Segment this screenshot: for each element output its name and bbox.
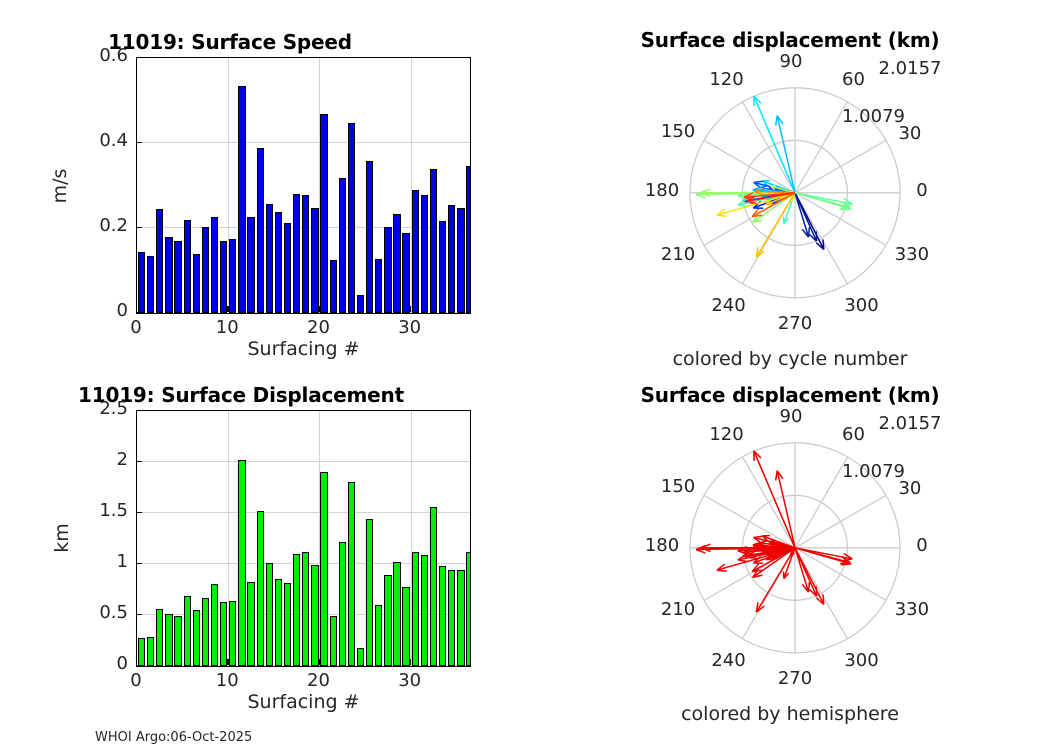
bar xyxy=(266,204,273,313)
polar-spoke xyxy=(704,495,795,548)
bar xyxy=(339,542,346,666)
bar xyxy=(402,587,409,666)
polar-angle-label: 210 xyxy=(652,244,704,265)
bar xyxy=(357,648,364,666)
bar xyxy=(229,239,236,313)
bar xyxy=(375,259,382,313)
panel-polar-hemisphere: Surface displacement (km) 03060901201501… xyxy=(530,375,1050,750)
gridline-y xyxy=(137,461,470,462)
y-tick-label: 0.6 xyxy=(58,45,128,66)
bar xyxy=(156,609,163,666)
figure-footer: WHOI Argo:06-Oct-2025 xyxy=(95,730,252,745)
bar xyxy=(238,86,245,313)
bar xyxy=(247,582,254,666)
x-tick-label: 0 xyxy=(106,670,166,691)
displacement-plot-area xyxy=(136,410,471,667)
y-tick-mark xyxy=(136,142,142,143)
bar xyxy=(266,563,273,666)
x-tick-mark xyxy=(227,306,228,312)
polar-angle-label: 300 xyxy=(836,650,888,671)
polar-cycle-title: Surface displacement (km) xyxy=(530,28,1050,52)
y-tick-mark xyxy=(136,410,142,411)
polar-angle-label: 240 xyxy=(703,295,755,316)
polar-angle-label: 0 xyxy=(896,535,948,556)
vector-arrowhead xyxy=(770,541,776,542)
y-tick-mark xyxy=(136,227,142,228)
polar-angle-label: 270 xyxy=(769,668,821,689)
vector-arrowhead xyxy=(770,186,776,187)
bar xyxy=(193,254,200,314)
panel-surface-speed: 11019: Surface Speed 00.20.40.6 0102030 … xyxy=(0,0,510,375)
polar-angle-label: 0 xyxy=(896,180,948,201)
x-tick-mark xyxy=(136,306,137,312)
bar xyxy=(339,178,346,313)
bar xyxy=(439,221,446,313)
vector-arrowhead xyxy=(754,536,763,537)
bar xyxy=(174,616,181,666)
vector-shaft xyxy=(754,96,795,193)
bar xyxy=(348,482,355,666)
x-tick-label: 10 xyxy=(197,670,257,691)
polar-angle-label: 330 xyxy=(886,244,938,265)
bar xyxy=(275,212,282,313)
x-tick-mark xyxy=(227,659,228,665)
polar-spoke xyxy=(795,140,886,193)
x-tick-label: 20 xyxy=(288,317,348,338)
bar xyxy=(421,195,428,313)
bar xyxy=(457,208,464,313)
displacement-y-axis-label: km xyxy=(51,468,73,608)
polar-angle-label: 180 xyxy=(636,535,688,556)
bar xyxy=(184,596,191,666)
polar-angle-label: 150 xyxy=(652,121,704,142)
bar xyxy=(147,256,154,313)
y-tick-mark xyxy=(136,665,142,666)
polar-hemisphere-title: Surface displacement (km) xyxy=(530,383,1050,407)
x-tick-mark xyxy=(318,306,319,312)
bar xyxy=(412,190,419,313)
x-tick-mark xyxy=(410,306,411,312)
y-tick-mark xyxy=(136,57,142,58)
vector-arrowhead xyxy=(717,570,727,571)
bar xyxy=(147,637,154,666)
polar-angle-label: 210 xyxy=(652,599,704,620)
bar xyxy=(293,554,300,666)
vector-arrowhead xyxy=(841,209,851,210)
bar xyxy=(366,161,373,313)
polar-cycle-caption: colored by cycle number xyxy=(530,348,1050,370)
polar-angle-label: 240 xyxy=(703,650,755,671)
x-tick-label: 10 xyxy=(197,317,257,338)
bar xyxy=(174,241,181,313)
x-tick-label: 30 xyxy=(380,317,440,338)
speed-x-axis-label: Surfacing # xyxy=(136,338,471,360)
bar xyxy=(220,241,227,313)
bar xyxy=(448,570,455,666)
vector-arrowhead xyxy=(776,471,778,481)
y-tick-mark xyxy=(136,614,142,615)
bar xyxy=(284,223,291,313)
speed-plot-area xyxy=(136,57,471,314)
bar xyxy=(247,217,254,313)
bar xyxy=(229,601,236,666)
panel-surface-displacement: 11019: Surface Displacement 00.511.522.5… xyxy=(0,375,510,750)
y-tick-mark xyxy=(136,461,142,462)
polar-vector xyxy=(754,451,795,548)
vector-shaft xyxy=(777,116,795,193)
polar-radial-label: 1.0079 xyxy=(834,106,914,127)
polar-angle-label: 270 xyxy=(769,313,821,334)
bar xyxy=(220,602,227,666)
bar xyxy=(320,472,327,666)
polar-angle-label: 120 xyxy=(701,69,753,90)
bar xyxy=(302,552,309,666)
bar xyxy=(202,598,209,666)
bar xyxy=(320,114,327,313)
bar xyxy=(202,227,209,313)
polar-hemisphere-plot: 03060901201501802102402703003301.00792.0… xyxy=(630,410,960,675)
bar xyxy=(138,638,145,666)
polar-angle-label: 90 xyxy=(765,51,817,72)
y-tick-label: 2.5 xyxy=(58,398,128,419)
x-tick-label: 0 xyxy=(106,317,166,338)
bar xyxy=(311,565,318,666)
bar xyxy=(156,209,163,313)
gridline-y xyxy=(137,512,470,513)
bar xyxy=(448,205,455,313)
bar xyxy=(211,584,218,666)
bar xyxy=(430,169,437,314)
bar xyxy=(238,460,245,666)
x-tick-label: 30 xyxy=(380,670,440,691)
bar xyxy=(393,562,400,666)
vector-arrowhead xyxy=(809,227,810,237)
polar-radial-label: 2.0157 xyxy=(870,58,950,79)
polar-cycle-plot: 03060901201501802102402703003301.00792.0… xyxy=(630,55,960,320)
bar xyxy=(284,583,291,666)
bar xyxy=(330,260,337,313)
vector-arrowhead xyxy=(754,181,763,182)
bar xyxy=(393,214,400,313)
polar-angle-label: 150 xyxy=(652,476,704,497)
x-tick-mark xyxy=(318,659,319,665)
bar xyxy=(466,166,471,313)
panel-polar-cycle: Surface displacement (km) 03060901201501… xyxy=(530,0,1050,375)
bar xyxy=(430,507,437,666)
y-tick-mark xyxy=(136,563,142,564)
vector-arrowhead xyxy=(841,564,851,565)
vector-arrowhead xyxy=(717,215,727,216)
figure-root: 11019: Surface Speed 00.20.40.6 0102030 … xyxy=(0,0,1050,750)
x-tick-mark xyxy=(410,659,411,665)
y-tick-mark xyxy=(136,312,142,313)
bar xyxy=(293,194,300,313)
polar-spoke xyxy=(743,102,796,193)
speed-y-axis-label: m/s xyxy=(49,116,71,256)
polar-hemisphere-caption: colored by hemisphere xyxy=(530,703,1050,725)
vector-arrowhead xyxy=(776,116,778,126)
bar xyxy=(357,295,364,313)
bar xyxy=(439,566,446,666)
bar xyxy=(466,552,471,666)
polar-vector xyxy=(754,96,795,193)
y-tick-label: 2 xyxy=(58,449,128,470)
bar xyxy=(457,570,464,666)
x-tick-mark xyxy=(136,659,137,665)
polar-angle-label: 180 xyxy=(636,180,688,201)
polar-radial-label: 2.0157 xyxy=(870,413,950,434)
bar xyxy=(211,217,218,313)
bar xyxy=(302,195,309,313)
displacement-x-axis-label: Surfacing # xyxy=(136,691,471,713)
polar-spoke xyxy=(704,140,795,193)
y-tick-mark xyxy=(136,512,142,513)
bar xyxy=(375,605,382,666)
gridline-y xyxy=(137,142,470,143)
bar xyxy=(138,252,145,313)
bar xyxy=(275,579,282,666)
bar xyxy=(330,616,337,666)
bar xyxy=(421,555,428,666)
bar xyxy=(366,519,373,666)
x-tick-label: 20 xyxy=(288,670,348,691)
bar xyxy=(348,123,355,313)
bar xyxy=(165,614,172,666)
bar xyxy=(311,208,318,313)
bar xyxy=(412,552,419,666)
bar xyxy=(384,227,391,313)
polar-radial-label: 1.0079 xyxy=(834,461,914,482)
polar-spoke xyxy=(743,457,796,548)
bar xyxy=(402,233,409,313)
bar xyxy=(384,575,391,666)
polar-spoke xyxy=(795,495,886,548)
bar xyxy=(193,610,200,666)
vector-shaft xyxy=(777,471,795,548)
bar xyxy=(165,237,172,314)
bar xyxy=(184,220,191,313)
polar-angle-label: 90 xyxy=(765,406,817,427)
polar-angle-label: 120 xyxy=(701,424,753,445)
polar-angle-label: 330 xyxy=(886,599,938,620)
bar xyxy=(257,148,264,313)
polar-spoke xyxy=(795,193,848,284)
polar-angle-label: 300 xyxy=(836,295,888,316)
polar-spoke xyxy=(795,548,848,639)
vector-shaft xyxy=(754,451,795,548)
vector-arrowhead xyxy=(809,582,810,592)
bar xyxy=(257,511,264,666)
